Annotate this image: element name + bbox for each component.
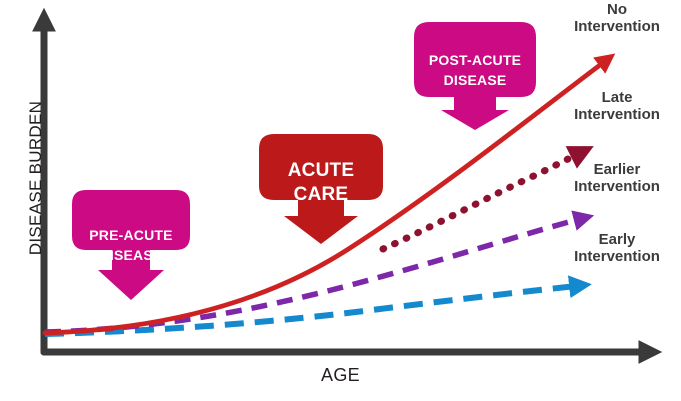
curve-label-late-intervention: Late Intervention [553,90,681,124]
x-axis-label: AGE [0,365,681,386]
curve-label-earlier-intervention-line1: Earlier [553,162,681,179]
callout-post-acute-disease: POST-ACUTE DISEASE [414,22,536,130]
callout-post-acute-shape [414,22,536,130]
curve-label-early-intervention: Early Intervention [553,232,681,266]
curve-label-earlier-intervention-line2: Intervention [553,179,681,196]
callout-pre-acute-disease: PRE-ACUTE DISEASE [72,190,190,300]
curve-label-no-intervention-line1: No [553,2,681,19]
y-axis-label: DISEASE BURDEN [26,98,46,258]
curve-label-no-intervention: No Intervention [553,2,681,36]
curve-label-early-intervention-line1: Early [553,232,681,249]
disease-burden-diagram: DISEASE BURDEN AGE PRE-ACUTE DISEASE ACU… [0,0,681,401]
curve-late-intervention [383,154,578,249]
callout-pre-acute-shape [72,190,190,300]
curve-label-late-intervention-line2: Intervention [553,107,681,124]
callout-acute-care-shape [259,134,383,244]
curve-label-early-intervention-line2: Intervention [553,249,681,266]
callout-acute-care: ACUTE CARE [259,134,383,244]
curve-label-earlier-intervention: Earlier Intervention [553,162,681,196]
curve-label-no-intervention-line2: Intervention [553,19,681,36]
curve-label-late-intervention-line1: Late [553,90,681,107]
